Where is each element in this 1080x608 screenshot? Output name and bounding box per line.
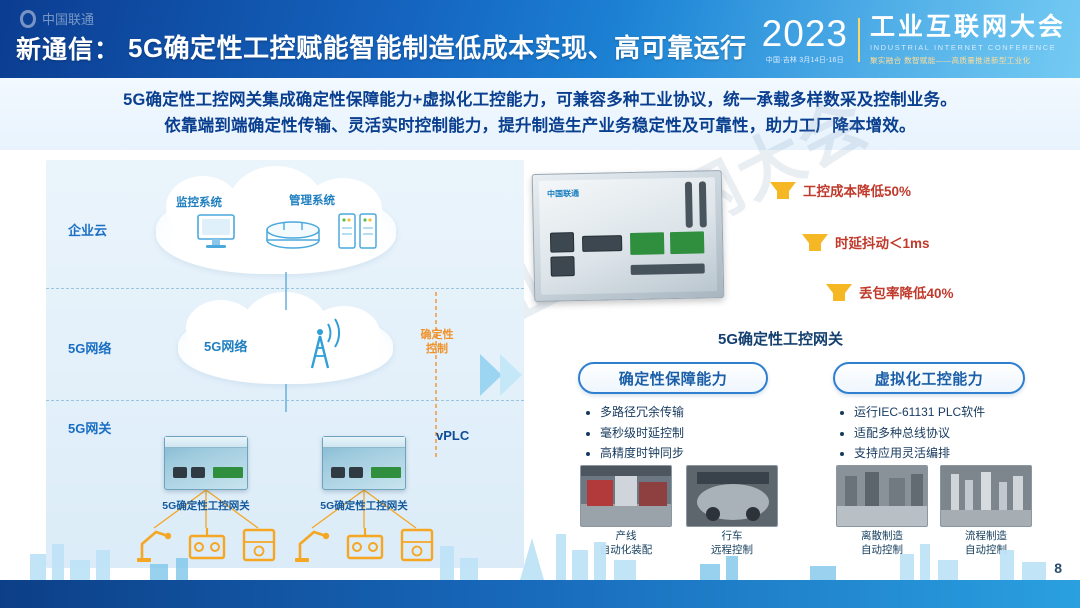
slide: 中国联通 新通信： 5G确定性工控赋能智能制造低成本实现、高可靠运行 2023 … — [0, 0, 1080, 608]
gateway-terminal-block-1 — [630, 232, 664, 255]
machine-icon-2 — [344, 522, 386, 564]
capability-list-virtualized: 运行IEC-61131 PLC软件 适配多种总线协议 支持应用灵活编排 — [840, 402, 1040, 464]
photo-caption-1: 产线 自动化装配 — [576, 530, 676, 557]
photo-process-mfg — [940, 465, 1032, 527]
gateway-left-port-2 — [191, 467, 205, 478]
gateway-antenna-1 — [685, 182, 693, 228]
list-item: 支持应用灵活编排 — [854, 443, 1040, 464]
vplc-label: vPLC — [436, 428, 469, 443]
list-item: 适配多种总线协议 — [854, 423, 1040, 444]
kpi-label-3: 丢包率降低40% — [859, 282, 954, 302]
header-conference-block: 2023 中国·吉林 3月14日-16日 工业互联网大会 INDUSTRIAL … — [762, 12, 1066, 68]
gateway-left-top-band — [165, 437, 247, 448]
capability-title-deterministic: 确定性保障能力 — [619, 368, 728, 389]
gateway-section-title: 5G确定性工控网关 — [718, 328, 843, 349]
page-number: 8 — [1054, 560, 1062, 576]
gateway-right-port-2 — [349, 467, 363, 478]
list-item: 多路径冗余传输 — [600, 402, 776, 423]
architecture-connectors — [46, 160, 524, 568]
chevron-right-double-icon — [476, 350, 532, 400]
photo-caption-2: 行车 远程控制 — [682, 530, 782, 557]
kpi-label-1: 工控成本降低50% — [803, 180, 911, 200]
statement-band: 5G确定性工控网关集成确定性保障能力+虚拟化工控能力，可兼容多种工业协议，统一承… — [0, 78, 1080, 150]
gateway-left-terminal — [213, 467, 243, 478]
architecture-panel: 企业云 5G网络 5G网关 监控系统 管理系统 — [46, 160, 524, 568]
deterministic-control-label: 确定性 控制 — [414, 328, 460, 357]
gateway-right-port-1 — [331, 467, 345, 478]
header-title-main: 5G确定性工控赋能智能制造低成本实现、高可靠运行 — [128, 28, 747, 65]
conference-year: 2023 — [762, 15, 848, 52]
capability-list-deterministic: 多路径冗余传输 毫秒级时延控制 高精度时钟同步 — [586, 402, 776, 464]
gateway-caption-left: 5G确定性工控网关 — [138, 498, 274, 513]
conference-slogan: 聚实融合 数智赋能——高质量推进新型工业化 — [870, 55, 1066, 66]
gateway-caption-right: 5G确定性工控网关 — [296, 498, 432, 513]
equipment-icon-2 — [396, 522, 438, 564]
slide-footer-bar — [0, 580, 1080, 608]
photo-discrete-mfg — [836, 465, 928, 527]
machine-icon-1 — [186, 522, 228, 564]
conference-name-en: INDUSTRIAL INTERNET CONFERENCE — [870, 43, 1066, 52]
statement-line-1: 5G确定性工控网关集成确定性保障能力+虚拟化工控能力，可兼容多种工业协议，统一承… — [123, 88, 957, 114]
gateway-antenna-2 — [699, 181, 707, 227]
gateway-device-right — [322, 436, 406, 490]
kpi-item-3: 丢包率降低40% — [826, 282, 954, 302]
statement-line-2: 依靠端到端确定性传输、灵活实时控制能力，提升制造生产业务稳定性及可靠性，助力工厂… — [164, 114, 916, 140]
capability-title-virtualized: 虚拟化工控能力 — [875, 368, 984, 389]
gateway-bottom-strip — [631, 263, 705, 275]
gateway-brand-text: 中国联通 — [547, 188, 579, 200]
gateway-right-terminal — [371, 467, 401, 478]
slide-header: 中国联通 新通信： 5G确定性工控赋能智能制造低成本实现、高可靠运行 2023 … — [0, 0, 1080, 78]
kpi-item-2: 时延抖动＜1ms — [802, 232, 930, 252]
header-title-prefix: 新通信： — [16, 30, 120, 66]
slide-body: 2023工业互联网大会 企业云 5G网络 5G网关 监控系统 管理系统 — [0, 150, 1080, 580]
gateway-ethernet-port-2 — [550, 256, 574, 276]
arrow-down-icon-3 — [826, 284, 852, 301]
photo-caption-3: 离散制造 自动控制 — [832, 530, 932, 557]
capability-box-virtualized[interactable]: 虚拟化工控能力 — [833, 362, 1025, 394]
header-divider — [858, 18, 860, 62]
kpi-label-2: 时延抖动＜1ms — [835, 232, 930, 252]
gateway-left-port-1 — [173, 467, 187, 478]
arrow-down-icon-1 — [770, 182, 796, 199]
equipment-icon-1 — [238, 522, 280, 564]
svg-text:中国联通: 中国联通 — [42, 12, 94, 27]
photo-truck-assembly — [580, 465, 672, 527]
conference-date: 中国·吉林 3月14日-16日 — [762, 55, 848, 65]
china-unicom-logo: 中国联通 — [18, 8, 138, 30]
arrow-down-icon-2 — [802, 234, 828, 251]
gateway-ethernet-port-1 — [550, 232, 574, 252]
gateway-right-top-band — [323, 437, 405, 448]
gateway-product-photo: 中国联通 — [532, 170, 725, 302]
robot-arm-icon-1 — [134, 522, 176, 564]
list-item: 高精度时钟同步 — [600, 443, 776, 464]
gateway-device-left — [164, 436, 248, 490]
kpi-item-1: 工控成本降低50% — [770, 180, 911, 200]
robot-arm-icon-2 — [292, 522, 334, 564]
photo-caption-4: 流程制造 自动控制 — [936, 530, 1036, 557]
list-item: 运行IEC-61131 PLC软件 — [854, 402, 1040, 423]
photo-car-body — [686, 465, 778, 527]
capability-box-deterministic[interactable]: 确定性保障能力 — [578, 362, 768, 394]
gateway-terminal-block-2 — [670, 231, 704, 254]
gateway-serial-port — [582, 235, 622, 252]
conference-name-cn: 工业互联网大会 — [870, 14, 1066, 40]
list-item: 毫秒级时延控制 — [600, 423, 776, 444]
